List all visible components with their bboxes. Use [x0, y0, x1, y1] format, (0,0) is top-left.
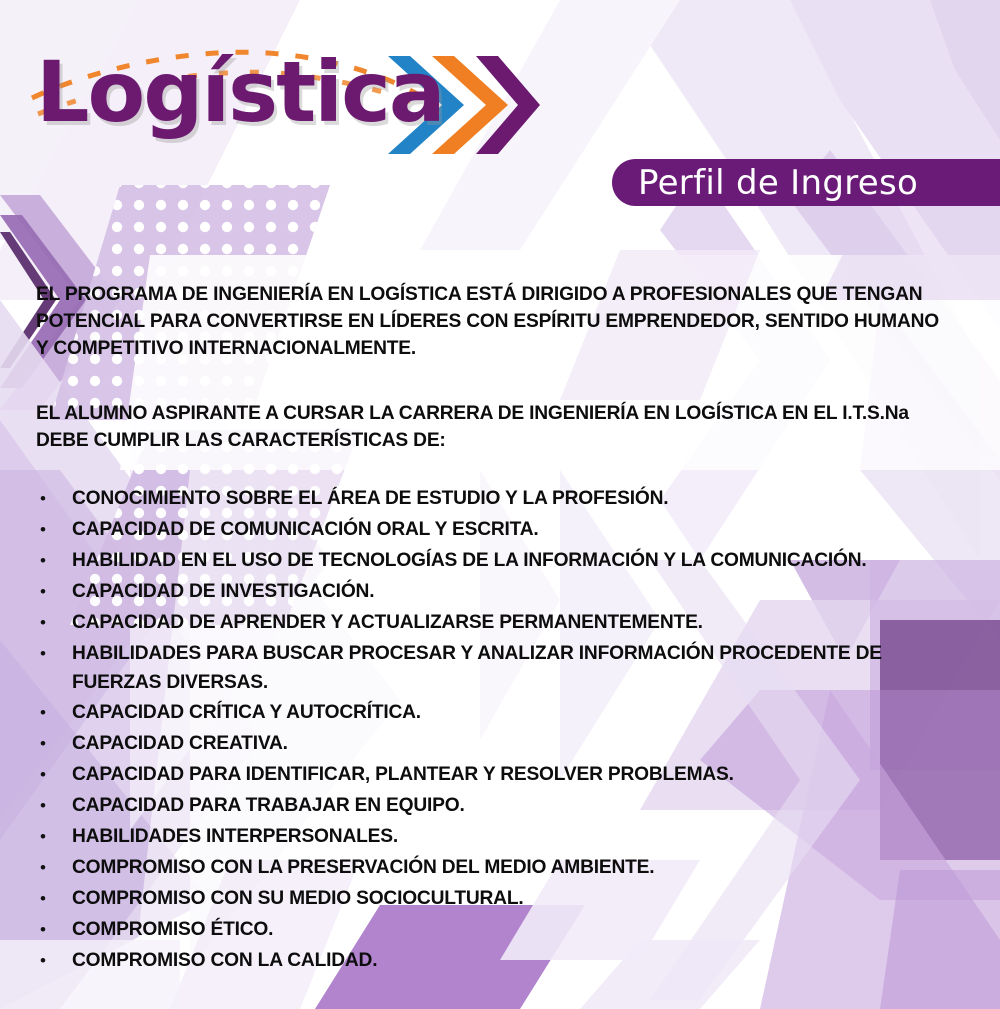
- list-item-label: HABILIDAD EN EL USO DE TECNOLOGÍAS DE LA…: [72, 546, 986, 576]
- list-item: •COMPROMISO CON LA PRESERVACIÓN DEL MEDI…: [36, 853, 986, 883]
- list-item: •COMPROMISO CON LA CALIDAD.: [36, 946, 986, 976]
- bullet-icon: •: [36, 884, 72, 914]
- list-item: •HABILIDADES INTERPERSONALES.: [36, 822, 986, 852]
- list-item: •COMPROMISO ÉTICO.: [36, 915, 986, 945]
- list-item-label: CAPACIDAD PARA TRABAJAR EN EQUIPO.: [72, 791, 986, 821]
- bullet-icon: •: [36, 515, 72, 545]
- bullet-icon: •: [36, 946, 72, 976]
- bullet-icon: •: [36, 698, 72, 728]
- requirements-list: •CONOCIMIENTO SOBRE EL ÁREA DE ESTUDIO Y…: [36, 484, 986, 977]
- bullet-icon: •: [36, 577, 72, 607]
- list-item: •COMPROMISO CON SU MEDIO SOCIOCULTURAL.: [36, 884, 986, 914]
- page-title: Perfil de Ingreso: [612, 166, 918, 200]
- list-item: •HABILIDADES PARA BUSCAR PROCESAR Y ANAL…: [36, 639, 986, 697]
- list-item-label: HABILIDADES PARA BUSCAR PROCESAR Y ANALI…: [72, 639, 986, 697]
- list-item-label: CONOCIMIENTO SOBRE EL ÁREA DE ESTUDIO Y …: [72, 484, 986, 514]
- list-item-label: COMPROMISO CON LA PRESERVACIÓN DEL MEDIO…: [72, 853, 986, 883]
- bullet-icon: •: [36, 484, 72, 514]
- list-item-label: CAPACIDAD DE APRENDER Y ACTUALIZARSE PER…: [72, 608, 986, 638]
- list-item-label: CAPACIDAD CRÍTICA Y AUTOCRÍTICA.: [72, 698, 986, 728]
- content-area: EL PROGRAMA DE INGENIERÍA EN LOGÍSTICA E…: [0, 0, 1000, 1009]
- bullet-icon: •: [36, 546, 72, 576]
- list-item: •HABILIDAD EN EL USO DE TECNOLOGÍAS DE L…: [36, 546, 986, 576]
- list-item-label: CAPACIDAD PARA IDENTIFICAR, PLANTEAR Y R…: [72, 760, 986, 790]
- intro-paragraph-2: EL ALUMNO ASPIRANTE A CURSAR LA CARRERA …: [36, 400, 986, 454]
- bullet-icon: •: [36, 760, 72, 790]
- bullet-icon: •: [36, 608, 72, 638]
- list-item-label: CAPACIDAD DE COMUNICACIÓN ORAL Y ESCRITA…: [72, 515, 986, 545]
- list-item: •CAPACIDAD PARA IDENTIFICAR, PLANTEAR Y …: [36, 760, 986, 790]
- list-item: •CAPACIDAD DE INVESTIGACIÓN.: [36, 577, 986, 607]
- list-item: •CONOCIMIENTO SOBRE EL ÁREA DE ESTUDIO Y…: [36, 484, 986, 514]
- bullet-icon: •: [36, 791, 72, 821]
- bullet-icon: •: [36, 915, 72, 945]
- list-item: •CAPACIDAD CRÍTICA Y AUTOCRÍTICA.: [36, 698, 986, 728]
- list-item-label: COMPROMISO CON LA CALIDAD.: [72, 946, 986, 976]
- list-item: •CAPACIDAD DE COMUNICACIÓN ORAL Y ESCRIT…: [36, 515, 986, 545]
- bullet-icon: •: [36, 853, 72, 883]
- list-item-label: COMPROMISO CON SU MEDIO SOCIOCULTURAL.: [72, 884, 986, 914]
- bullet-icon: •: [36, 639, 72, 669]
- list-item-label: CAPACIDAD CREATIVA.: [72, 729, 986, 759]
- list-item-label: HABILIDADES INTERPERSONALES.: [72, 822, 986, 852]
- list-item: •CAPACIDAD CREATIVA.: [36, 729, 986, 759]
- slide-canvas: Logística Perfil de Ingreso EL PROGRAMA …: [0, 0, 1000, 1009]
- list-item-label: CAPACIDAD DE INVESTIGACIÓN.: [72, 577, 986, 607]
- title-banner: Perfil de Ingreso: [612, 159, 1000, 206]
- list-item: •CAPACIDAD PARA TRABAJAR EN EQUIPO.: [36, 791, 986, 821]
- list-item-label: COMPROMISO ÉTICO.: [72, 915, 986, 945]
- intro-paragraph-1: EL PROGRAMA DE INGENIERÍA EN LOGÍSTICA E…: [36, 281, 986, 362]
- list-item: •CAPACIDAD DE APRENDER Y ACTUALIZARSE PE…: [36, 608, 986, 638]
- bullet-icon: •: [36, 729, 72, 759]
- bullet-icon: •: [36, 822, 72, 852]
